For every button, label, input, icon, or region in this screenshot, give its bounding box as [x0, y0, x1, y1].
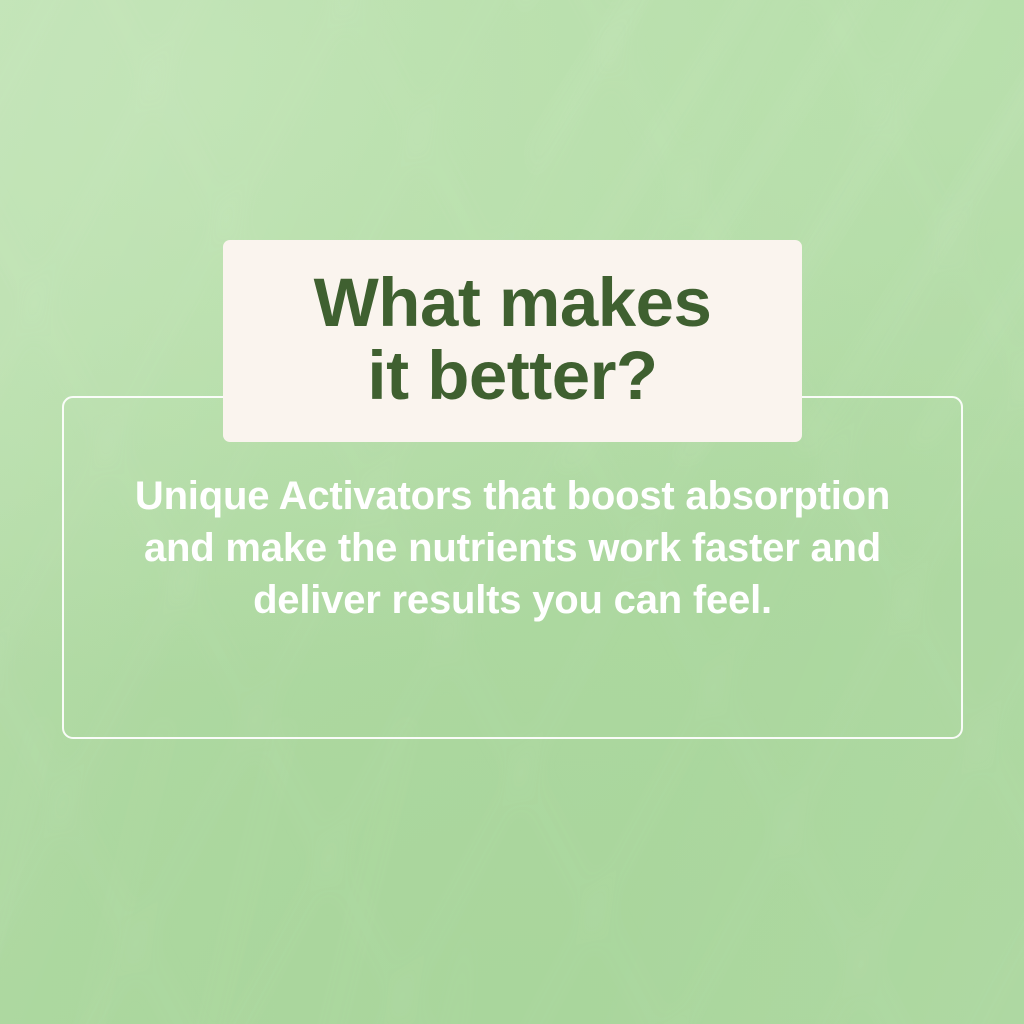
promo-poster: What makes it better? Unique Activators …	[0, 0, 1024, 1024]
page-title: What makes it better?	[314, 266, 712, 416]
body-copy-text: Unique Activators that boost absorption …	[98, 470, 928, 626]
body-copy-container: Unique Activators that boost absorption …	[62, 470, 963, 696]
heading-card: What makes it better?	[223, 240, 802, 442]
